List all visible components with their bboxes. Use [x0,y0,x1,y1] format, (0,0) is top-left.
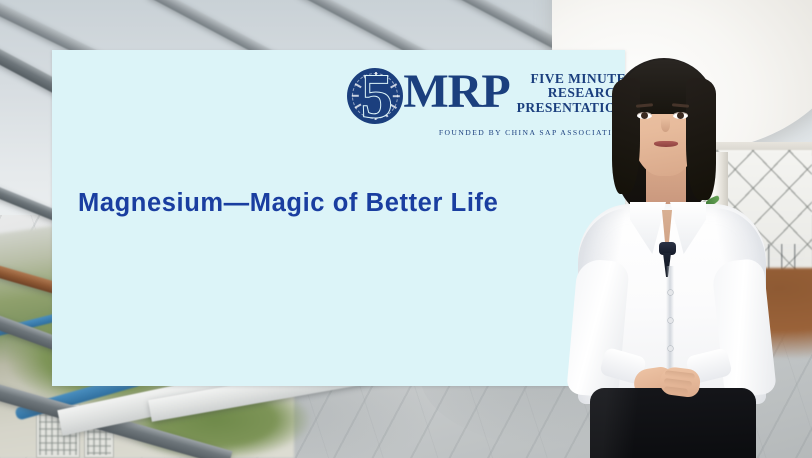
video-frame: 5 MRP FIVE MINUTE RESEARCH PRESENTATION … [0,0,812,458]
eye-right [673,112,688,119]
logo-acronym: MRP [403,69,509,114]
eye-left [637,112,652,119]
hair-left [612,78,640,194]
shirt-button [668,290,673,295]
presenter [560,52,782,458]
nose [661,118,670,132]
mouth [654,141,678,147]
skirt-highlight [590,388,756,458]
shirt-button [668,318,673,323]
slide-title: Magnesium—Magic of Better Life [78,189,498,218]
hair-right [686,78,716,200]
clock-icon: 5 [347,68,407,128]
shirt-button [668,346,673,351]
presentation-slide[interactable]: 5 MRP FIVE MINUTE RESEARCH PRESENTATION … [52,50,625,386]
logo-numeral: 5 [361,66,392,128]
